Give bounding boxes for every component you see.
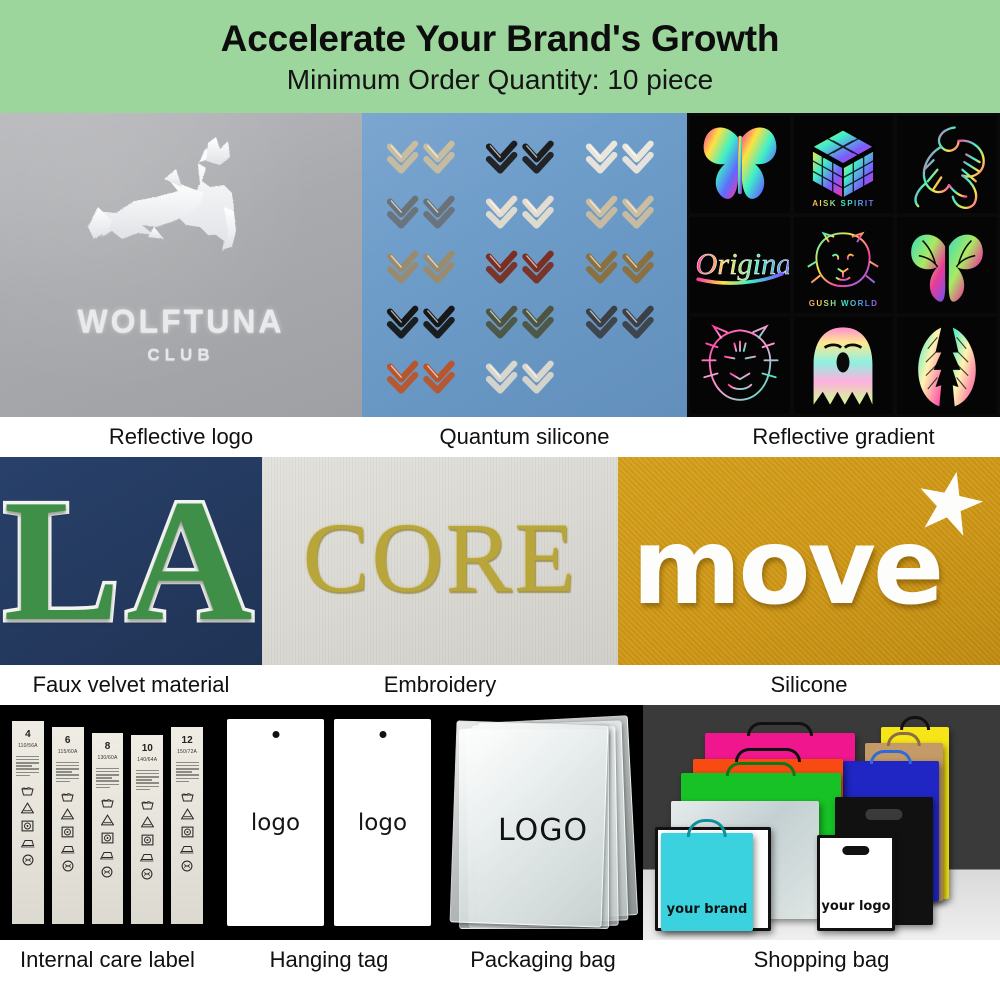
caption-silicone: Silicone	[618, 665, 1000, 705]
chevron-patch	[482, 300, 566, 340]
panel-internal-care-label: 4110/56A6115/60A8130/60A10140/64A12150/7…	[0, 705, 215, 940]
care-label-size: 4	[25, 729, 31, 740]
bag-die-cut-handle-icon	[842, 846, 869, 855]
wolf-fish-logo-icon	[82, 135, 282, 305]
care-symbol-icon	[61, 808, 74, 820]
hanging-tag-1: logo	[227, 719, 324, 926]
holo-tile-ghost	[794, 317, 894, 414]
showcase-row-1: WOLFTUNA CLUB	[0, 113, 1000, 417]
care-label-size: 6	[65, 735, 71, 746]
care-symbol-icon	[22, 854, 34, 866]
care-symbol-row	[21, 785, 35, 866]
caption-row-2: Faux velvet material Embroidery Silicone	[0, 665, 1000, 705]
panel-quantum-silicone	[362, 113, 687, 417]
panel-hanging-tag: logo logo	[215, 705, 443, 940]
care-symbol-row	[180, 791, 194, 872]
care-label: 8130/60A	[92, 733, 124, 924]
care-symbol-icon	[101, 814, 114, 826]
caption-row-3: Internal care label Hanging tag Packagin…	[0, 940, 1000, 980]
showcase-row-3: 4110/56A6115/60A8130/60A10140/64A12150/7…	[0, 705, 1000, 940]
holo-tile-phoenix	[897, 116, 997, 213]
care-label-text-block	[176, 760, 199, 784]
care-symbol-icon	[61, 826, 74, 838]
caption-quantum-silicone: Quantum silicone	[362, 417, 687, 457]
chevron-patch	[582, 300, 666, 340]
care-symbol-row	[100, 797, 114, 878]
shopping-bag-cyan: your brand	[661, 833, 753, 931]
care-label-spec: 110/56A	[18, 743, 38, 749]
caption-faux-velvet: Faux velvet material	[0, 665, 262, 705]
care-symbol-row	[140, 799, 154, 880]
care-symbol-icon	[141, 816, 154, 828]
holo-tile-rubiks-cube: AISK SPIRIT	[794, 116, 894, 213]
care-symbol-icon	[21, 802, 34, 814]
bag-handle-icon	[900, 716, 930, 730]
chevron-patch	[582, 135, 666, 175]
caption-hanging-tag: Hanging tag	[215, 940, 443, 980]
care-symbol-icon	[100, 850, 114, 860]
embroidery-text: CORE	[262, 505, 618, 610]
holo-tile-tiger-head	[690, 317, 790, 414]
tag-hole-icon	[272, 731, 279, 738]
care-label-size: 12	[182, 735, 193, 746]
tag-hole-icon	[379, 731, 386, 738]
panel-packaging-bag: LOGO	[443, 705, 643, 940]
caption-shopping-bag: Shopping bag	[643, 940, 1000, 980]
care-label-spec: 115/60A	[58, 749, 78, 755]
care-symbol-icon	[141, 868, 153, 880]
product-showcase-image: Accelerate Your Brand's Growth Minimum O…	[0, 0, 1000, 1000]
holo-tile-label: GUSH WORLD	[794, 299, 894, 308]
care-symbol-icon	[61, 844, 75, 854]
panel-silicone: move	[618, 457, 1000, 665]
bag-handle-icon	[747, 722, 813, 736]
bag-die-cut-handle-icon	[865, 809, 902, 820]
holographic-tile-grid: AISK SPIRIT	[687, 113, 1000, 417]
chevron-patch	[383, 245, 467, 285]
packaging-logo-text: LOGO	[443, 813, 643, 848]
holo-tile-original-script: Original	[690, 217, 790, 314]
care-label-text-block	[56, 760, 79, 784]
hanging-tag-pair: logo logo	[215, 705, 443, 940]
care-symbol-icon	[21, 838, 35, 848]
brand-sub-text: CLUB	[0, 345, 362, 365]
care-symbol-icon	[140, 852, 154, 862]
hanging-tag-2: logo	[334, 719, 431, 926]
chevron-patch	[383, 135, 467, 175]
shopping-bag-label: your brand	[661, 902, 753, 917]
chevron-patch	[482, 190, 566, 230]
packaging-bag-stack: LOGO	[443, 705, 643, 940]
care-symbol-icon	[101, 866, 113, 878]
panel-reflective-gradient: AISK SPIRIT	[687, 113, 1000, 417]
care-label: 4110/56A	[12, 721, 44, 924]
caption-reflective-logo: Reflective logo	[0, 417, 362, 457]
chevron-patch	[383, 190, 467, 230]
bag-handle-icon	[735, 748, 801, 762]
care-label-spec: 130/60A	[97, 755, 117, 761]
chevron-patch-grid	[362, 113, 687, 417]
care-symbol-row	[61, 791, 75, 872]
care-symbol-icon	[141, 799, 154, 810]
panel-reflective-logo: WOLFTUNA CLUB	[0, 113, 362, 417]
care-symbol-icon	[101, 797, 114, 808]
chevron-patch	[383, 355, 467, 395]
brand-name-text: WOLFTUNA	[0, 303, 362, 340]
care-label: 10140/64A	[131, 735, 163, 924]
caption-embroidery: Embroidery	[262, 665, 618, 705]
holo-tile-angel-wings	[897, 317, 997, 414]
page-title: Accelerate Your Brand's Growth	[221, 20, 780, 59]
chevron-patch	[582, 190, 666, 230]
faux-velvet-letters: LA	[0, 465, 262, 655]
care-label-text-block	[16, 754, 39, 778]
minimum-order-quantity: Minimum Order Quantity: 10 piece	[287, 63, 713, 97]
care-symbol-icon	[61, 791, 74, 802]
care-label-size: 8	[105, 741, 111, 752]
care-label-text-block	[96, 766, 119, 790]
panel-shopping-bag: your logo your brand	[643, 705, 1000, 940]
care-symbol-icon	[180, 844, 194, 854]
care-symbol-icon	[21, 820, 34, 832]
caption-internal-care-label: Internal care label	[0, 940, 215, 980]
shopping-bag-label: your logo	[820, 899, 892, 914]
shopping-bag-white: your logo	[817, 835, 895, 931]
care-symbol-icon	[181, 808, 194, 820]
shopping-bag-group: your logo your brand	[643, 705, 1000, 940]
tag-logo-text: logo	[358, 810, 407, 836]
holo-tile-label: AISK SPIRIT	[794, 199, 894, 208]
panel-embroidery: CORE	[262, 457, 618, 665]
tag-logo-text: logo	[251, 810, 300, 836]
panel-faux-velvet: LA	[0, 457, 262, 665]
caption-row-1: Reflective logo Quantum silicone Reflect…	[0, 417, 1000, 457]
care-symbol-icon	[101, 832, 114, 844]
holo-tile-butterfly-outline	[897, 217, 997, 314]
chevron-patch	[482, 245, 566, 285]
care-label-strip: 4110/56A6115/60A8130/60A10140/64A12150/7…	[0, 705, 215, 940]
chevron-patch	[482, 135, 566, 175]
silicone-logo-text: move	[632, 515, 941, 620]
care-label: 6115/60A	[52, 727, 84, 924]
holo-tile-butterfly	[690, 116, 790, 213]
care-label-spec: 150/72A	[177, 749, 197, 755]
chevron-patch	[383, 300, 467, 340]
care-label: 12150/72A	[171, 727, 203, 924]
care-label-text-block	[136, 768, 159, 792]
bag-handle-icon	[870, 750, 912, 764]
care-label-size: 10	[142, 743, 153, 754]
care-symbol-icon	[141, 834, 154, 846]
holo-tile-lion-head: GUSH WORLD	[794, 217, 894, 314]
bag-handle-icon	[726, 762, 796, 776]
header-banner: Accelerate Your Brand's Growth Minimum O…	[0, 0, 1000, 113]
care-symbol-icon	[181, 826, 194, 838]
care-symbol-icon	[62, 860, 74, 872]
showcase-row-2: LA CORE move	[0, 457, 1000, 665]
care-symbol-icon	[181, 791, 194, 802]
care-symbol-icon	[181, 860, 193, 872]
chevron-patch	[582, 245, 666, 285]
caption-packaging-bag: Packaging bag	[443, 940, 643, 980]
caption-reflective-gradient: Reflective gradient	[687, 417, 1000, 457]
care-label-spec: 140/64A	[137, 757, 157, 763]
chevron-patch	[482, 355, 566, 395]
care-symbol-icon	[21, 785, 34, 796]
